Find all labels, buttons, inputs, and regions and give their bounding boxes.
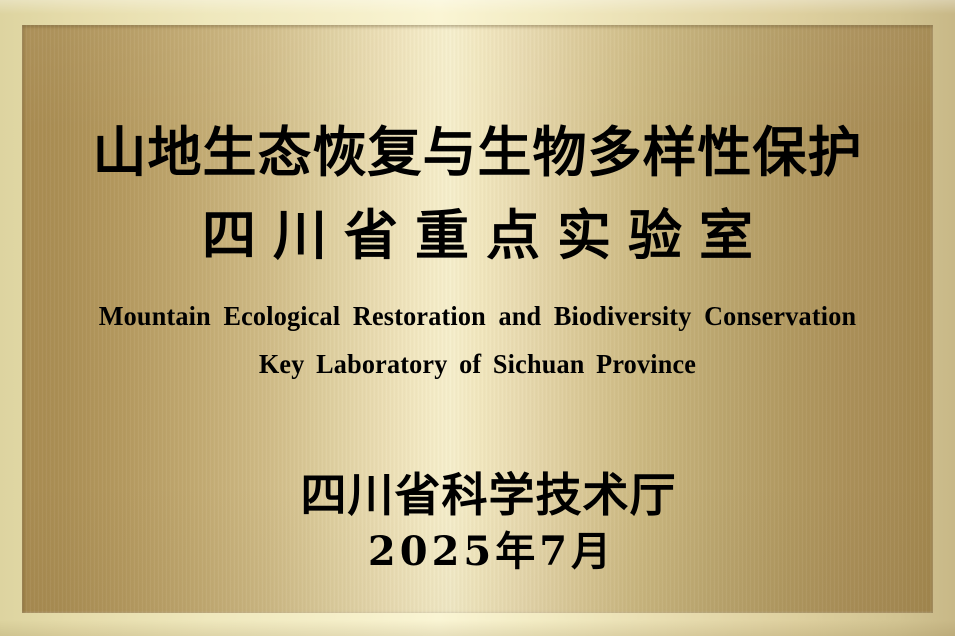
title-chinese-line-2: 四川省重点实验室 (22, 208, 933, 262)
plaque-content: 山地生态恢复与生物多样性保护 四川省重点实验室 Mountain Ecologi… (22, 25, 933, 613)
issuing-authority: 四川省科学技术厅 (44, 472, 933, 518)
title-english-line-2: Key Laboratory of Sichuan Province (36, 351, 920, 378)
issue-date: 2025年7月 (46, 532, 933, 572)
title-english-line-1: Mountain Ecological Restoration and Biod… (36, 303, 920, 330)
plaque-inner-panel: 山地生态恢复与生物多样性保护 四川省重点实验室 Mountain Ecologi… (22, 25, 933, 613)
title-chinese-line-1: 山地生态恢复与生物多样性保护 (22, 125, 933, 179)
award-plaque: 山地生态恢复与生物多样性保护 四川省重点实验室 Mountain Ecologi… (0, 0, 955, 636)
issuer-block: 四川省科学技术厅 2025年7月 (22, 472, 933, 572)
